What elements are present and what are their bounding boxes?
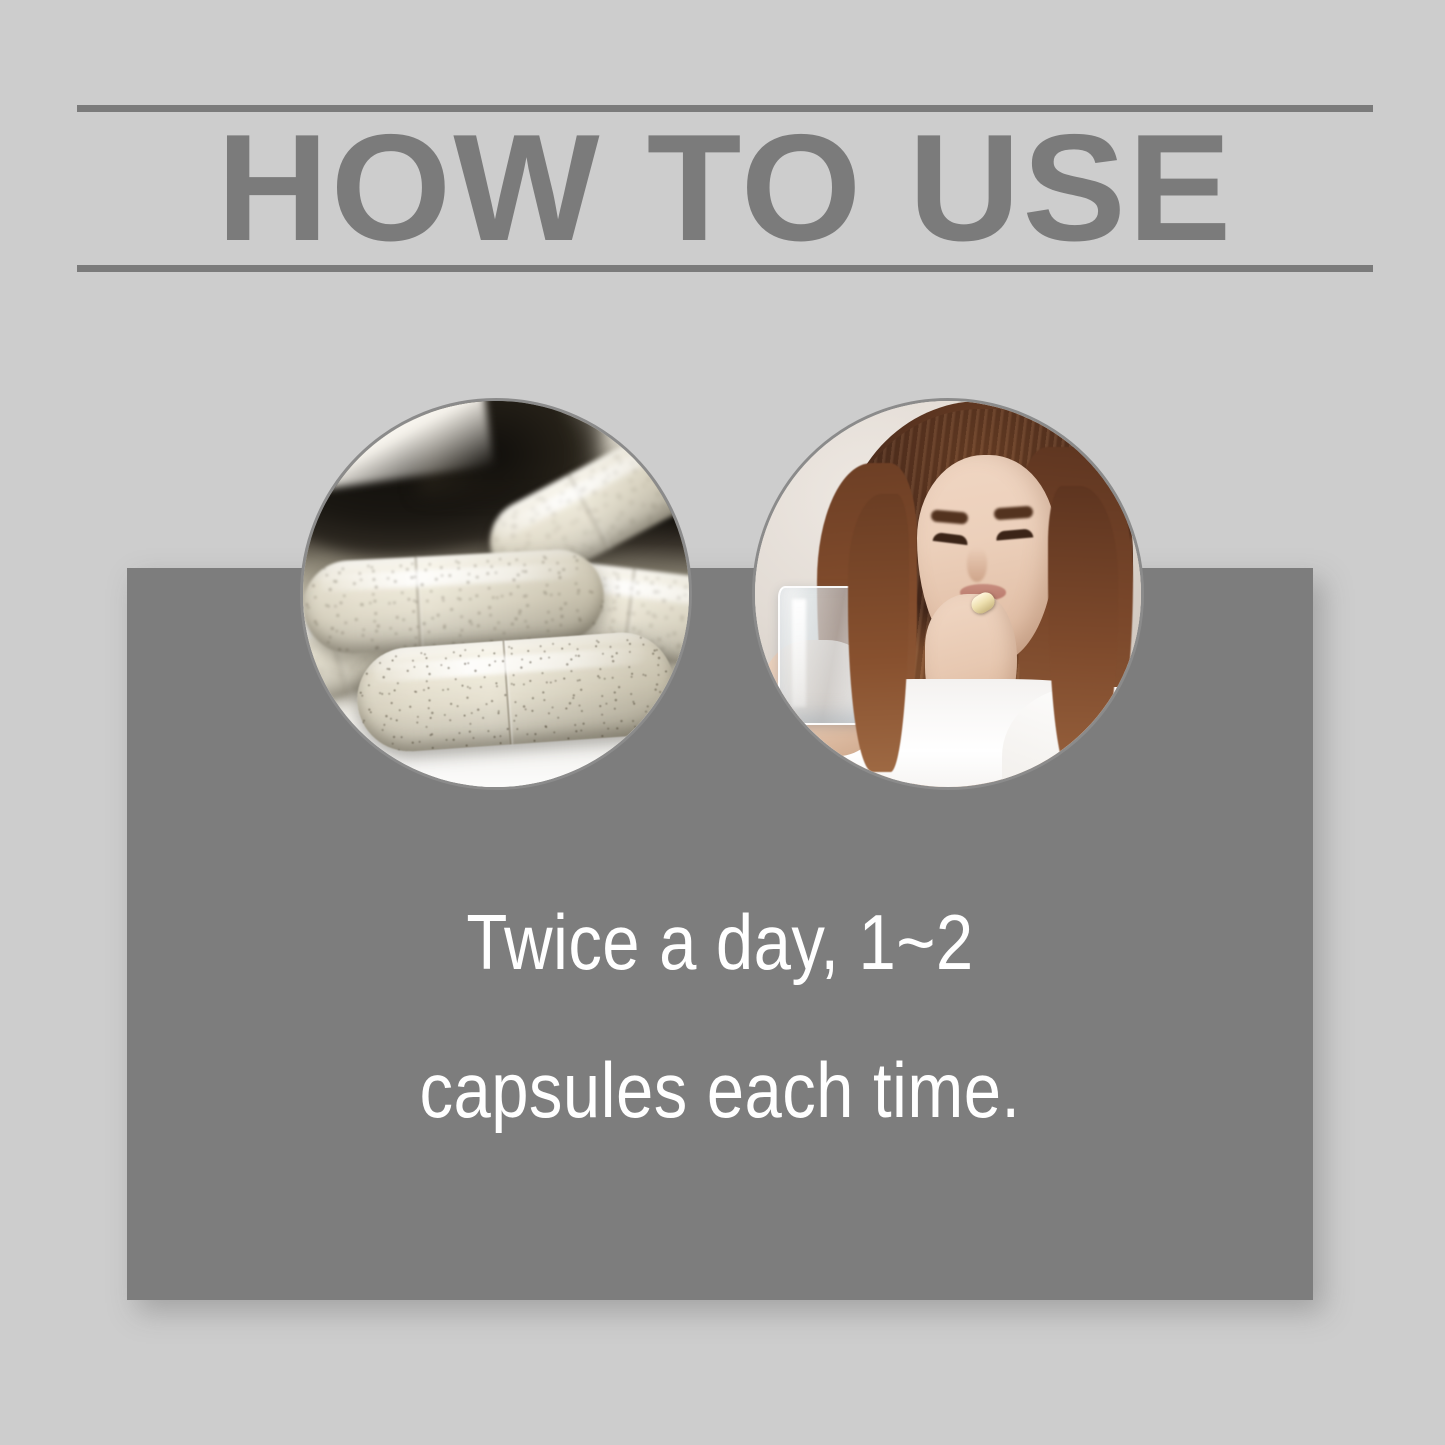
header-block: HOW TO USE <box>77 105 1373 277</box>
instruction-text: Twice a day, 1~2 capsules each time. <box>210 868 1230 1164</box>
instruction-line-2: capsules each time. <box>287 1016 1152 1164</box>
instruction-line-1: Twice a day, 1~2 <box>287 868 1152 1016</box>
woman-hair-front-right <box>1048 486 1117 772</box>
infographic-canvas: HOW TO USE Twice a day, 1~2 capsules eac… <box>0 0 1445 1445</box>
capsules-photo <box>300 398 692 790</box>
capsule-gloss <box>374 646 647 684</box>
woman-scene-background <box>755 401 1141 787</box>
woman-nose <box>967 548 986 583</box>
capsule-seam <box>568 474 610 550</box>
capsule-gloss <box>319 562 578 592</box>
capsule-seam <box>502 641 511 745</box>
woman-photo <box>752 398 1144 790</box>
woman-hair-front-left <box>848 494 910 772</box>
capsule-seam <box>415 557 422 650</box>
woman-photo-inner <box>755 401 1141 787</box>
header-bottom-rule <box>77 265 1373 272</box>
page-title: HOW TO USE <box>64 112 1386 265</box>
capsules-photo-inner <box>303 401 689 787</box>
